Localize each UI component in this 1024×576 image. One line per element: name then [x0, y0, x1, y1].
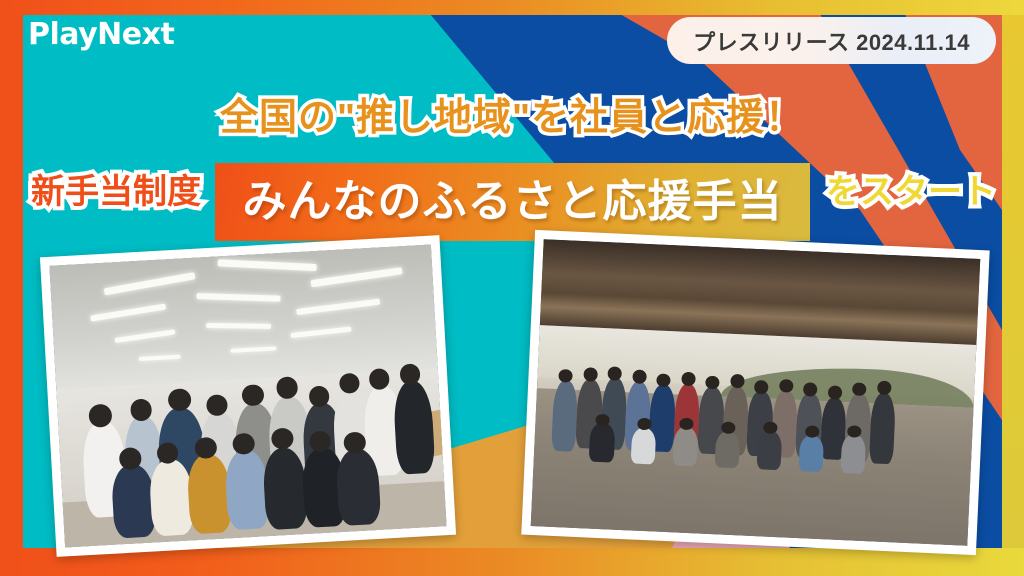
headline-text: 全国の"推し地域"を社員と応援！	[0, 99, 1024, 137]
start-tag: をスタート	[806, 175, 1016, 209]
playnext-logo: PlayNext	[28, 20, 174, 50]
title-band: みんなのふるさと応援手当	[215, 163, 810, 241]
riverside-photo-image	[531, 239, 981, 546]
top-gradient-bar	[0, 0, 1024, 15]
new-allowance-tag: 新手当制度	[16, 175, 216, 209]
press-release-badge: プレスリリース 2024.11.14	[667, 17, 996, 64]
bottom-gradient-bar	[0, 548, 1024, 576]
left-edge-bar	[0, 0, 23, 576]
title-band-text: みんなのふるさと応援手当	[243, 180, 783, 224]
office-group-photo	[40, 235, 456, 557]
subtitle-row: 新手当制度 みんなのふるさと応援手当 をスタート	[0, 163, 1024, 241]
press-release-badge-label: プレスリリース 2024.11.14	[693, 25, 970, 57]
press-release-banner: PlayNext プレスリリース 2024.11.14 全国の"推し地域"を社員…	[0, 0, 1024, 576]
riverside-group-photo	[521, 230, 989, 555]
right-edge-bar	[1002, 0, 1024, 576]
office-photo-image	[49, 245, 446, 548]
